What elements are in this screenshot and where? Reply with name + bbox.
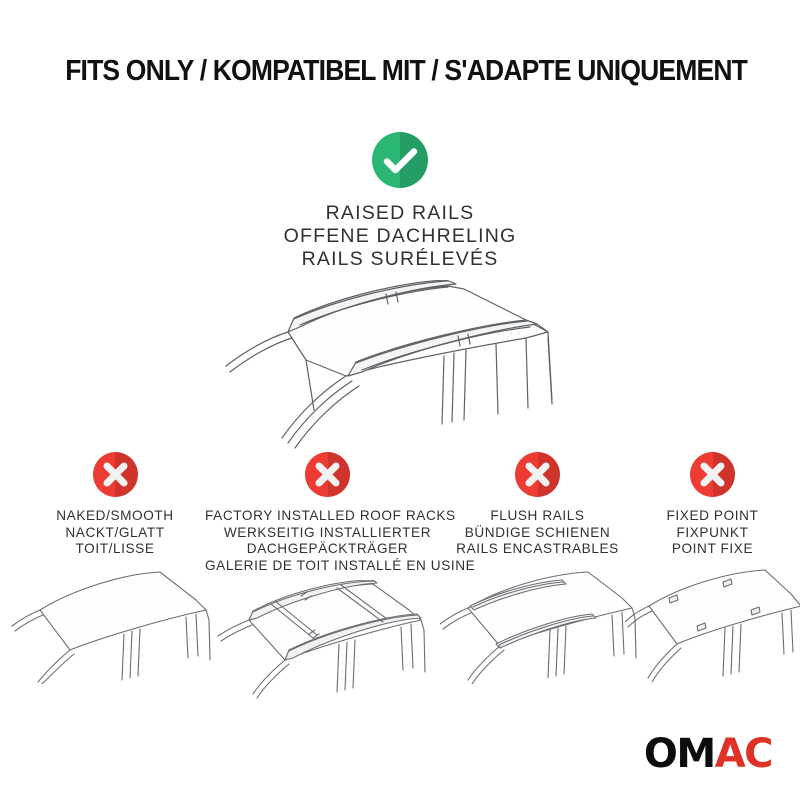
compatible-section: RAISED RAILS OFFENE DACHRELING RAILS SUR… bbox=[0, 132, 800, 271]
naked-smooth-label-en: NAKED/SMOOTH bbox=[5, 508, 225, 525]
factory-racks-label-fr: GALERIE DE TOIT INSTALLÉ EN USINE bbox=[205, 558, 450, 575]
x-circle-icon bbox=[690, 452, 735, 497]
flush-rails-label-en: FLUSH RAILS bbox=[440, 508, 635, 525]
compatible-label-fr: RAILS SURÉLEVÉS bbox=[0, 248, 800, 271]
car-roof-with-raised-rails-illustration bbox=[196, 280, 616, 455]
x-circle-icon bbox=[515, 452, 560, 497]
fixed-point-label-de: FIXPUNKT bbox=[625, 525, 800, 542]
omac-logo-part-2: AC bbox=[715, 731, 772, 777]
incompatible-item-fixed-point: FIXED POINT FIXPUNKT POINT FIXE bbox=[625, 452, 800, 684]
flush-rails-label-de: BÜNDIGE SCHIENEN bbox=[440, 525, 635, 542]
naked-smooth-label-fr: TOIT/LISSE bbox=[5, 541, 225, 558]
factory-racks-label-de2: DACHGEPÄCKTRÄGER bbox=[205, 541, 450, 558]
x-circle-icon bbox=[93, 452, 138, 497]
factory-racks-icon-wrap bbox=[205, 452, 450, 497]
omac-logo-part-1: OM bbox=[644, 731, 715, 777]
omac-logo: OMAC bbox=[644, 734, 772, 774]
incompatible-item-naked-smooth: NAKED/SMOOTH NACKT/GLATT TOIT/LISSE bbox=[5, 452, 225, 684]
compatible-label-en: RAISED RAILS bbox=[0, 202, 800, 225]
factory-racks-label-en: FACTORY INSTALLED ROOF RACKS bbox=[205, 508, 450, 525]
incompatible-row: NAKED/SMOOTH NACKT/GLATT TOIT/LISSE bbox=[0, 452, 800, 712]
car-roof-with-flush-rails-illustration bbox=[440, 564, 635, 684]
check-circle-icon bbox=[372, 132, 428, 188]
factory-racks-label-de: WERKSEITIG INSTALLIERTER bbox=[205, 525, 450, 542]
fixed-point-labels: FIXED POINT FIXPUNKT POINT FIXE bbox=[625, 508, 800, 558]
naked-smooth-icon-wrap bbox=[5, 452, 225, 497]
incompatible-item-flush-rails: FLUSH RAILS BÜNDIGE SCHIENEN RAILS ENCAS… bbox=[440, 452, 635, 684]
fixed-point-label-fr: POINT FIXE bbox=[625, 541, 800, 558]
car-roof-naked-smooth-illustration bbox=[5, 564, 225, 684]
flush-rails-icon-wrap bbox=[440, 452, 635, 497]
page-title: FITS ONLY / KOMPATIBEL MIT / S'ADAPTE UN… bbox=[65, 55, 735, 88]
compatible-icon-wrap bbox=[0, 132, 800, 188]
car-roof-with-factory-crossbars-illustration bbox=[205, 580, 450, 700]
naked-smooth-label-de: NACKT/GLATT bbox=[5, 525, 225, 542]
compatible-labels: RAISED RAILS OFFENE DACHRELING RAILS SUR… bbox=[0, 202, 800, 271]
fixed-point-label-en: FIXED POINT bbox=[625, 508, 800, 525]
flush-rails-labels: FLUSH RAILS BÜNDIGE SCHIENEN RAILS ENCAS… bbox=[440, 508, 635, 558]
fixed-point-icon-wrap bbox=[625, 452, 800, 497]
x-circle-icon bbox=[305, 452, 350, 497]
flush-rails-label-fr: RAILS ENCASTRABLES bbox=[440, 541, 635, 558]
naked-smooth-labels: NAKED/SMOOTH NACKT/GLATT TOIT/LISSE bbox=[5, 508, 225, 558]
compatible-label-de: OFFENE DACHRELING bbox=[0, 225, 800, 248]
incompatible-item-factory-racks: FACTORY INSTALLED ROOF RACKS WERKSEITIG … bbox=[205, 452, 450, 700]
factory-racks-labels: FACTORY INSTALLED ROOF RACKS WERKSEITIG … bbox=[205, 508, 450, 574]
car-roof-with-fixed-points-illustration bbox=[625, 564, 800, 684]
header-banner: FITS ONLY / KOMPATIBEL MIT / S'ADAPTE UN… bbox=[0, 0, 800, 108]
